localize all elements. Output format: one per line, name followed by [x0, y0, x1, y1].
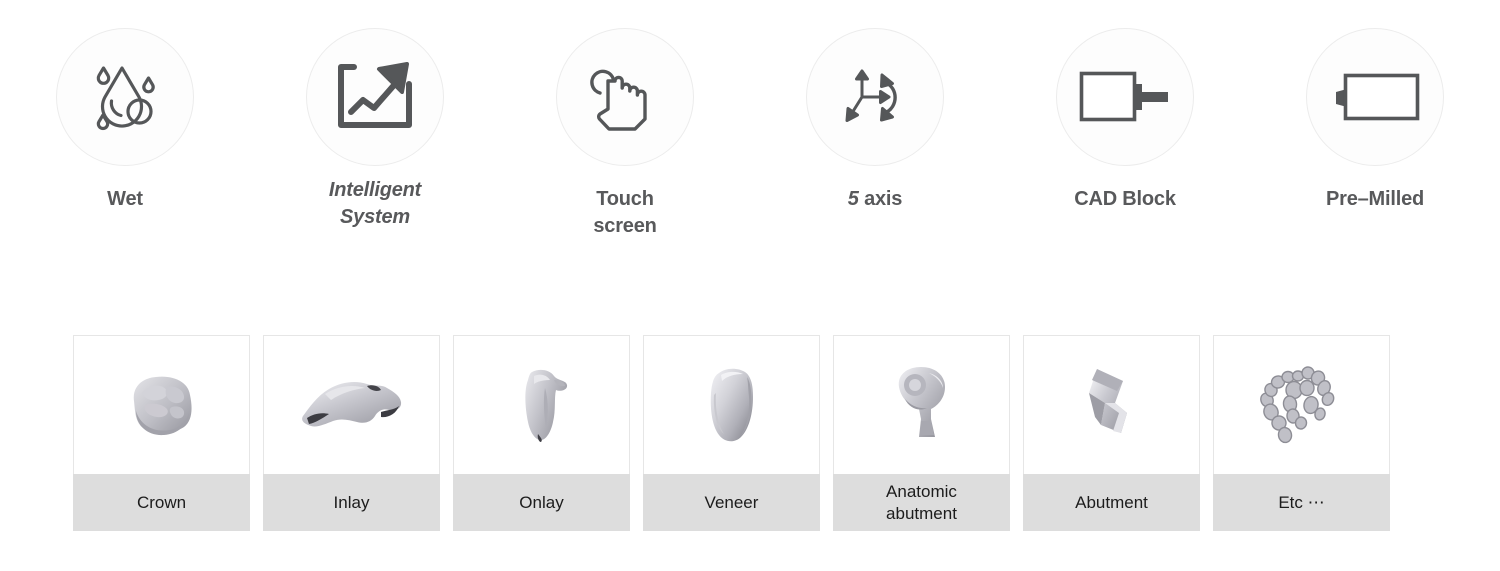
- feature-label: Pre–Milled: [1326, 186, 1424, 213]
- product-caption: Onlay: [453, 474, 630, 531]
- feature-label: Wet: [107, 186, 143, 213]
- feature-label: 5 axis: [848, 186, 902, 213]
- feature-label-text: axis: [859, 188, 902, 210]
- feature-showcase-page: Wet Intelligent System: [0, 0, 1500, 571]
- growth-chart-arrow-icon: [333, 59, 417, 135]
- dental-veneer-model: [703, 363, 761, 447]
- product-caption: Crown: [73, 474, 250, 531]
- dental-onlay-model: [514, 364, 570, 446]
- dental-crown-model: [114, 363, 210, 447]
- feature-strip: Wet Intelligent System: [0, 28, 1500, 258]
- feature-label: Touch screen: [593, 186, 656, 239]
- feature-label-number: 5: [848, 188, 859, 210]
- abutment-model: [1075, 363, 1149, 447]
- feature-item-touch-screen[interactable]: Touch screen: [500, 28, 750, 239]
- feature-item-intelligent-system[interactable]: Intelligent System: [250, 28, 500, 230]
- product-image: [643, 335, 820, 474]
- anatomic-abutment-model: [885, 361, 959, 449]
- product-image: [73, 335, 250, 474]
- water-droplet-icon: [86, 59, 164, 135]
- product-card-abutment[interactable]: Abutment: [1023, 335, 1200, 531]
- product-card-etc[interactable]: Etc ⋯: [1213, 335, 1390, 531]
- feature-icon-circle: [1306, 28, 1444, 166]
- product-image: [833, 335, 1010, 474]
- product-card-anatomic-abutment[interactable]: Anatomic abutment: [833, 335, 1010, 531]
- product-image: [1213, 335, 1390, 474]
- product-card-row: Crown: [73, 335, 1427, 531]
- product-caption: Abutment: [1023, 474, 1200, 531]
- feature-item-pre-milled[interactable]: Pre–Milled: [1250, 28, 1500, 213]
- product-card-veneer[interactable]: Veneer: [643, 335, 820, 531]
- product-card-inlay[interactable]: Inlay: [263, 335, 440, 531]
- product-caption: Anatomic abutment: [833, 474, 1010, 531]
- product-card-onlay[interactable]: Onlay: [453, 335, 630, 531]
- feature-icon-circle: [556, 28, 694, 166]
- pre-milled-blank-icon: [1329, 71, 1421, 123]
- cad-block-icon: [1079, 71, 1171, 123]
- product-image: [263, 335, 440, 474]
- five-axis-rotation-icon: [842, 62, 908, 132]
- feature-item-wet[interactable]: Wet: [0, 28, 250, 213]
- dental-inlay-model: [295, 368, 409, 442]
- touch-hand-icon: [585, 57, 665, 137]
- feature-icon-circle: [56, 28, 194, 166]
- product-card-crown[interactable]: Crown: [73, 335, 250, 531]
- product-image: [1023, 335, 1200, 474]
- product-caption: Inlay: [263, 474, 440, 531]
- product-image: [453, 335, 630, 474]
- feature-item-cad-block[interactable]: CAD Block: [1000, 28, 1250, 213]
- feature-icon-circle: [306, 28, 444, 166]
- feature-label: CAD Block: [1074, 186, 1176, 213]
- product-caption: Veneer: [643, 474, 820, 531]
- product-caption: Etc ⋯: [1213, 474, 1390, 531]
- feature-icon-circle: [1056, 28, 1194, 166]
- feature-icon-circle: [806, 28, 944, 166]
- feature-label: Intelligent System: [329, 177, 421, 230]
- multiple-restorations-model: [1249, 360, 1355, 450]
- feature-item-five-axis[interactable]: 5 axis: [750, 28, 1000, 213]
